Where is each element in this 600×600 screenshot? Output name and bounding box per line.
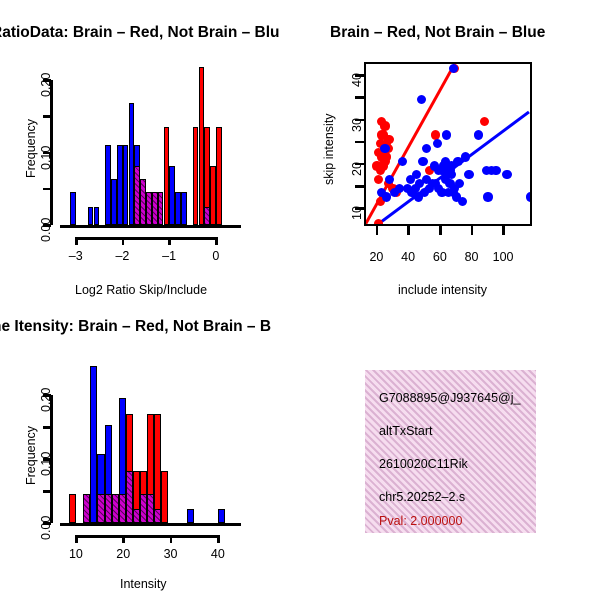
x-axis-tick [168, 237, 171, 245]
y-axis-tick-label: 40 [350, 73, 364, 87]
y-axis-minor-tick [355, 141, 364, 144]
x-axis-tick [217, 535, 220, 543]
panel-intensity-histogram: ne Itensity: Brain – Red, Not Brain – B … [0, 305, 300, 600]
x-axis-tick [122, 535, 125, 543]
y-axis-tick-label: 0.00 [39, 218, 53, 242]
info-line-locus: chr5.20252–2.s [379, 490, 465, 504]
y-axis-tick-label: 0.20 [39, 73, 53, 97]
y-axis-tick [43, 115, 51, 118]
y-axis-tick [43, 426, 51, 429]
x-axis-tick-label: 10 [69, 547, 83, 561]
x-axis-tick-label: –2 [115, 249, 129, 263]
x-axis-tick [75, 535, 78, 543]
x-axis-tick-label: –1 [162, 249, 176, 263]
x-axis-tick-label: 30 [164, 547, 178, 561]
y-axis-tick-label: 0.00 [39, 516, 53, 540]
info-line-id: G7088895@J937645@j_ [379, 391, 520, 405]
y-axis-tick-label: 20 [350, 162, 364, 176]
x-axis-tick [439, 226, 442, 235]
info-line-event-type: altTxStart [379, 424, 433, 438]
y-axis-tick-label: 0.10 [39, 452, 53, 476]
intensity-histogram-axes: 0.000.100.2010203040 [0, 305, 300, 600]
x-axis-tick [502, 226, 505, 235]
info-line-pval: Pval: 2.000000 [379, 514, 462, 528]
x-axis-tick-label: 40 [401, 250, 415, 264]
x-axis-tick-label: 80 [465, 250, 479, 264]
info-line-gene-symbol: 2610020C11Rik [379, 457, 468, 471]
ratio-histogram-axes: 0.000.100.20–3–2–10 [0, 0, 300, 305]
x-axis-tick [170, 535, 173, 543]
panel-ratio-histogram: RatioData: Brain – Red, Not Brain – Blu … [0, 0, 300, 305]
figure-canvas: RatioData: Brain – Red, Not Brain – Blu … [0, 0, 600, 600]
x-axis-tick-label: 0 [212, 249, 219, 263]
x-axis-tick-label: 100 [493, 250, 514, 264]
x-axis-baseline [60, 225, 241, 228]
x-axis-tick [215, 237, 218, 245]
y-axis-tick-label: 10 [350, 206, 364, 220]
x-axis-tick-label: 60 [433, 250, 447, 264]
x-axis-tick-label: 40 [211, 547, 225, 561]
y-axis-tick [43, 188, 51, 191]
y-axis-tick [43, 490, 51, 493]
y-axis-minor-tick [355, 96, 364, 99]
y-axis-tick-label: 0.20 [39, 388, 53, 412]
x-axis-tick [122, 237, 125, 245]
x-axis-tick-label: –3 [69, 249, 83, 263]
x-axis-tick [75, 237, 78, 245]
x-axis-baseline [60, 523, 241, 526]
x-axis-tick-label: 20 [116, 547, 130, 561]
x-axis-tick [407, 226, 410, 235]
y-axis-minor-tick [355, 185, 364, 188]
y-axis-tick-label: 30 [350, 118, 364, 132]
x-axis-tick [471, 226, 474, 235]
y-axis-tick-label: 0.10 [39, 145, 53, 169]
x-axis-line [76, 535, 218, 538]
gene-info-panel: G7088895@J937645@j_ altTxStart 2610020C1… [365, 370, 536, 533]
x-axis-tick [376, 226, 379, 235]
panel-scatter: Brain – Red, Not Brain – Blue skip inten… [300, 0, 600, 305]
x-axis-line [76, 237, 216, 240]
x-axis-tick-label: 20 [369, 250, 383, 264]
scatter-axes: 1020304020406080100 [300, 0, 600, 305]
